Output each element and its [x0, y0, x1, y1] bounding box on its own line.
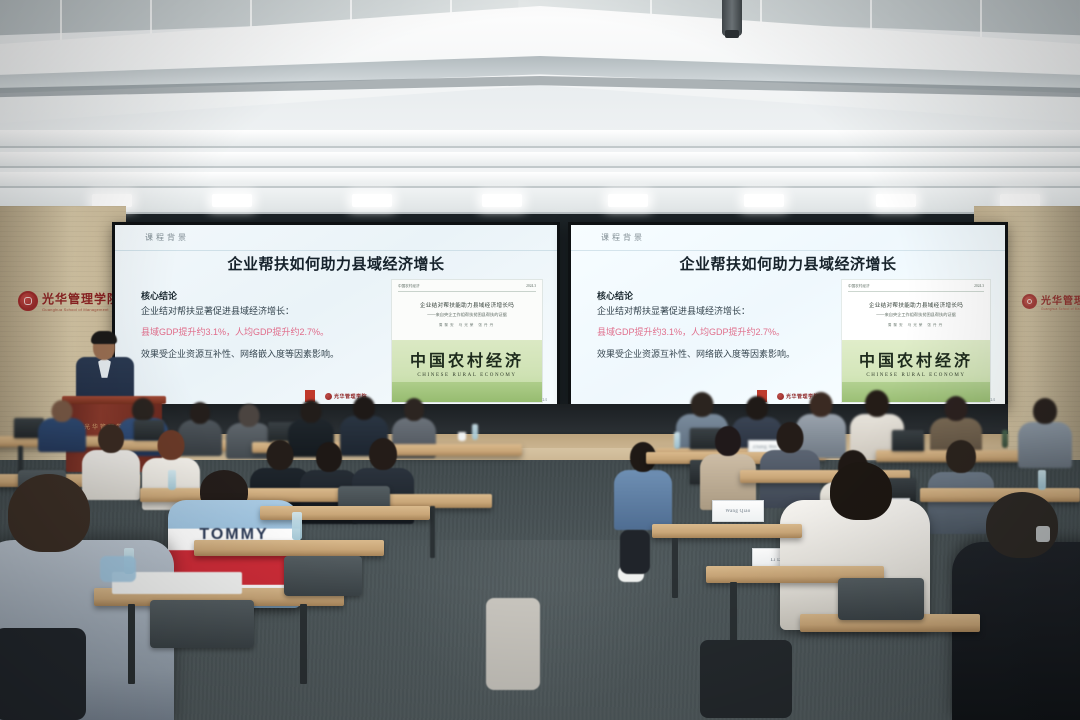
slide-highlight-stat: 县域GDP提升约3.1%，人均GDP提升约2.7%。 [597, 326, 827, 340]
person-head [52, 400, 73, 422]
chair-back [838, 578, 924, 620]
institution-logo-right: 光华管理学院 Guanghua School of Management [1022, 292, 1080, 311]
audience-member [82, 424, 140, 496]
chair-back [284, 556, 362, 596]
bag [486, 598, 540, 690]
person-head [132, 398, 154, 422]
person-torso [614, 470, 672, 530]
cup [458, 432, 466, 441]
ceiling-light-panel [608, 194, 648, 207]
projector-icon [722, 0, 742, 36]
water-bottle [168, 470, 176, 490]
institution-logo-cn: 光华管理学院 [42, 290, 120, 307]
journal-masthead-cn: 中国农村经济 [392, 347, 542, 371]
person-head [777, 422, 804, 453]
ceiling-light-strip [0, 188, 1080, 214]
institution-seal-icon [1022, 294, 1037, 309]
ceiling-band-seam [0, 146, 1080, 148]
slide-section-heading: 核心结论 [141, 289, 371, 302]
slide-conclusion: 企业结对帮扶显著促进县域经济增长： [597, 305, 827, 319]
desk [194, 540, 384, 556]
ceiling-tile-seam [60, 0, 62, 44]
person-head [158, 430, 185, 460]
journal-article-subtitle: ——来自央企工作组帮扶贫困县帮扶的证据 [392, 312, 542, 318]
person-leg [620, 530, 650, 574]
desk [260, 506, 430, 520]
slide-note: 效果受企业资源互补性、网络嵌入度等因素影响。 [141, 348, 371, 362]
slide-kicker: 课程背景 [145, 232, 189, 243]
ceiling-band [0, 152, 1080, 166]
person-head [8, 474, 90, 552]
slide-title: 企业帮扶如何助力县域经济增长 [115, 253, 557, 274]
person-head [369, 438, 397, 470]
water-bottle [1002, 430, 1008, 448]
institution-seal-icon [325, 393, 332, 400]
journal-authors: 周黎安 马光荣 张丹丹 [842, 323, 990, 328]
desk-leg [430, 506, 435, 558]
person-head [746, 396, 768, 420]
person-torso [1018, 422, 1072, 468]
slide-left: 课程背景 企业帮扶如何助力县域经济增长 核心结论 企业结对帮扶显著促进县域经济增… [115, 225, 557, 405]
slide-page-number: 14 [542, 397, 547, 402]
name-placard: Wang Qiao [712, 500, 764, 522]
journal-article-subtitle: ——来自央企工作组帮扶贫困县帮扶的证据 [842, 312, 990, 318]
journal-masthead-en: CHINESE RURAL ECONOMY [842, 373, 990, 378]
institution-seal-icon [18, 291, 38, 311]
institution-logo-cn: 光华管理学院 [1041, 292, 1080, 307]
center-aisle [380, 540, 710, 720]
slide-title: 企业帮扶如何助力县域经济增长 [571, 253, 1005, 274]
water-bottle [472, 424, 478, 440]
desk [652, 524, 802, 538]
journal-cover-thumbnail: 中国农村经济 2024.3 企业结对帮扶能助力县域经济增长吗 ——来自央企工作组… [391, 279, 543, 403]
person-head [267, 440, 294, 470]
person-head [865, 390, 889, 417]
journal-header-right: 2024.3 [526, 284, 536, 289]
person-head [316, 442, 342, 472]
audience-member [928, 440, 994, 530]
water-bottle [1038, 470, 1046, 490]
ceiling-light-panel [352, 194, 392, 207]
slide-section-heading: 核心结论 [597, 289, 827, 302]
journal-header-left: 中国农村经济 [398, 284, 420, 289]
ceiling-band-seam [0, 166, 1080, 168]
journal-rule [398, 291, 536, 292]
ceiling-light-panel [212, 194, 252, 207]
person-head [190, 402, 210, 424]
chair-back [150, 600, 254, 648]
slide-footer: 光华管理学院 [115, 389, 557, 403]
person-head [715, 426, 741, 456]
name-placard-text: Wang Qiao [725, 509, 750, 514]
desk-leg [18, 446, 23, 472]
bag [0, 628, 86, 720]
person-head [239, 404, 260, 427]
ceiling-band [0, 130, 1080, 146]
slide-conclusion: 企业结对帮扶显著促进县域经济增长： [141, 305, 371, 319]
slide-page-number: 14 [990, 397, 995, 402]
slide-note: 效果受企业资源互补性、网络嵌入度等因素影响。 [597, 348, 827, 362]
journal-article-title: 企业结对帮扶能助力县域经济增长吗 [842, 301, 990, 309]
desk-leg [128, 604, 135, 684]
audience-member [760, 422, 820, 504]
water-bottle [674, 432, 680, 449]
desk-leg [672, 538, 678, 598]
journal-header-right: 2024.3 [974, 284, 984, 289]
institution-logo-left: 光华管理学院 Guanghua School of Management [18, 290, 120, 312]
ceiling-band [0, 172, 1080, 186]
person-head [945, 396, 968, 421]
journal-article-title: 企业结对帮扶能助力县域经济增长吗 [392, 301, 542, 309]
projection-screen-right: 课程背景 企业帮扶如何助力县域经济增长 核心结论 企业结对帮扶显著促进县域经济增… [568, 222, 1008, 408]
laptop [892, 430, 924, 451]
person-head [946, 440, 976, 473]
journal-rule [848, 291, 984, 292]
person-head [830, 462, 892, 520]
person-torso [82, 450, 140, 500]
slide-body: 核心结论 企业结对帮扶显著促进县域经济增长： 县域GDP提升约3.1%，人均GD… [141, 289, 371, 362]
audience-member [700, 426, 756, 506]
journal-cover-thumbnail: 中国农村经济 2024.3 企业结对帮扶能助力县域经济增长吗 ——来自央企工作组… [841, 279, 991, 403]
bag [700, 640, 792, 718]
slide-right: 课程背景 企业帮扶如何助力县域经济增长 核心结论 企业结对帮扶显著促进县域经济增… [571, 225, 1005, 405]
ceiling-light-panel [876, 194, 916, 207]
presenter-hair [91, 331, 117, 344]
ceiling-light-panel [744, 194, 784, 207]
journal-authors: 周黎安 马光荣 张丹丹 [392, 323, 542, 328]
eyeglasses-icon [1036, 526, 1050, 542]
lecture-hall-photo: 光华管理学院 Guanghua School of Management 光华管… [0, 0, 1080, 720]
person-head [98, 424, 124, 453]
journal-header-left: 中国农村经济 [848, 284, 870, 289]
institution-logo-en: Guanghua School of Management [1041, 307, 1080, 311]
person-head [404, 398, 424, 421]
person-head [986, 492, 1058, 558]
ceiling-light-panel [482, 194, 522, 207]
journal-masthead-en: CHINESE RURAL ECONOMY [392, 373, 542, 378]
slide-highlight-stat: 县域GDP提升约3.1%，人均GDP提升约2.7%。 [141, 326, 371, 340]
plastic-bag [100, 556, 136, 582]
journal-header: 中国农村经济 2024.3 [392, 280, 542, 289]
journal-masthead-cn: 中国农村经济 [842, 347, 990, 371]
person-head [301, 400, 322, 423]
person-head [691, 392, 714, 417]
audience-member [38, 400, 86, 448]
person-head [1033, 398, 1057, 424]
slide-kicker: 课程背景 [601, 232, 645, 243]
audience-member [1018, 398, 1072, 464]
person-torso [928, 472, 994, 534]
slide-body: 核心结论 企业结对帮扶显著促进县域经济增长： 县域GDP提升约3.1%，人均GD… [597, 289, 827, 362]
projection-screen-left: 课程背景 企业帮扶如何助力县域经济增长 核心结论 企业结对帮扶显著促进县域经济增… [112, 222, 560, 408]
person-head [353, 396, 375, 420]
person-torso [38, 418, 86, 452]
institution-logo-en: Guanghua School of Management [42, 307, 120, 312]
journal-header: 中国农村经济 2024.3 [842, 280, 990, 289]
water-bottle [292, 512, 302, 540]
desk-leg [300, 604, 307, 684]
person-head [810, 392, 833, 417]
